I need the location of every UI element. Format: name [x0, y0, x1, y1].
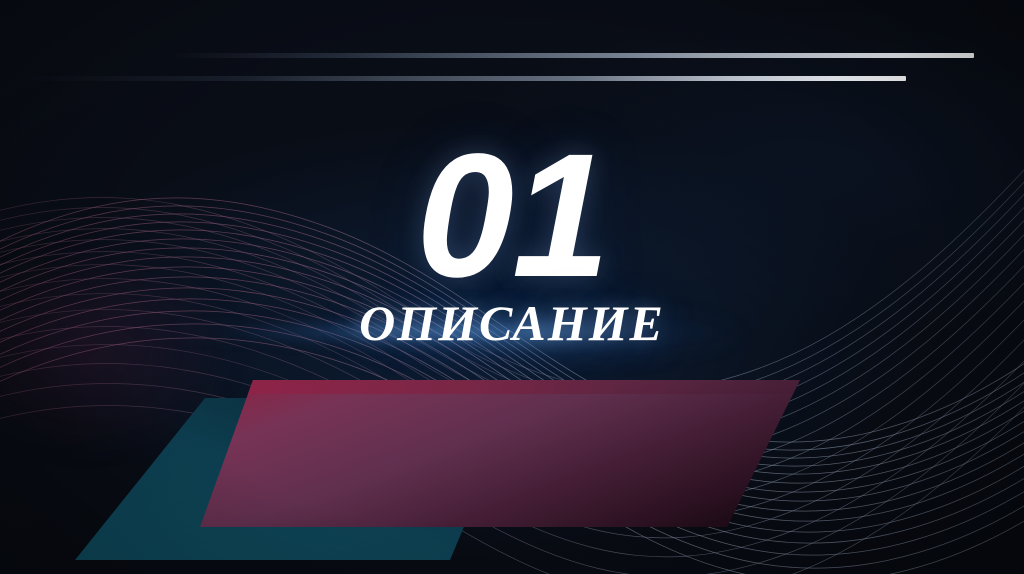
slide-canvas: 01 ОПИСАНИЕ [0, 0, 1024, 574]
crimson-parallelogram [200, 374, 800, 534]
header-rule-upper [168, 53, 974, 58]
header-rule-lower [28, 76, 906, 81]
section-number: 01 [0, 128, 1024, 304]
section-subtitle: ОПИСАНИЕ [0, 298, 1024, 348]
